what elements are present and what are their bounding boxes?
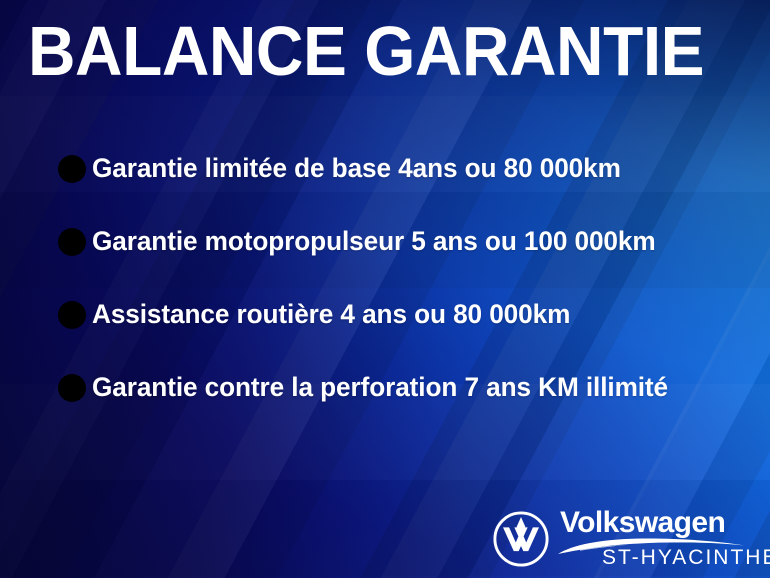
list-item: Garantie motopropulseur 5 ans ou 100 000… xyxy=(0,205,770,278)
list-item: Garantie limitée de base 4ans ou 80 000k… xyxy=(0,132,770,205)
benefits-list: Garantie limitée de base 4ans ou 80 000k… xyxy=(0,132,770,424)
dealer-logo: Volkswagen ST-HYACINTHE xyxy=(492,503,754,575)
volkswagen-roundel-icon xyxy=(492,510,550,568)
logo-wordmark-group: Volkswagen ST-HYACINTHE xyxy=(560,503,756,575)
list-item: Assistance routière 4 ans ou 80 000km xyxy=(0,278,770,351)
brand-name: Volkswagen xyxy=(560,508,725,538)
list-item-label: Garantie motopropulseur 5 ans ou 100 000… xyxy=(92,228,656,255)
list-item-label: Garantie limitée de base 4ans ou 80 000k… xyxy=(92,155,621,182)
bullet-dot-icon xyxy=(58,155,86,183)
list-item-label: Garantie contre la perforation 7 ans KM … xyxy=(92,374,668,401)
banner-title: BALANCE GARANTIE xyxy=(28,16,704,86)
bullet-dot-icon xyxy=(58,228,86,256)
dealer-name: ST-HYACINTHE xyxy=(602,547,770,568)
bullet-dot-icon xyxy=(58,374,86,402)
bullet-dot-icon xyxy=(58,301,86,329)
promo-banner: BALANCE GARANTIE Garantie limitée de bas… xyxy=(0,0,770,578)
list-item: Garantie contre la perforation 7 ans KM … xyxy=(0,351,770,424)
banner-content: BALANCE GARANTIE Garantie limitée de bas… xyxy=(0,0,770,578)
list-item-label: Assistance routière 4 ans ou 80 000km xyxy=(92,301,570,328)
